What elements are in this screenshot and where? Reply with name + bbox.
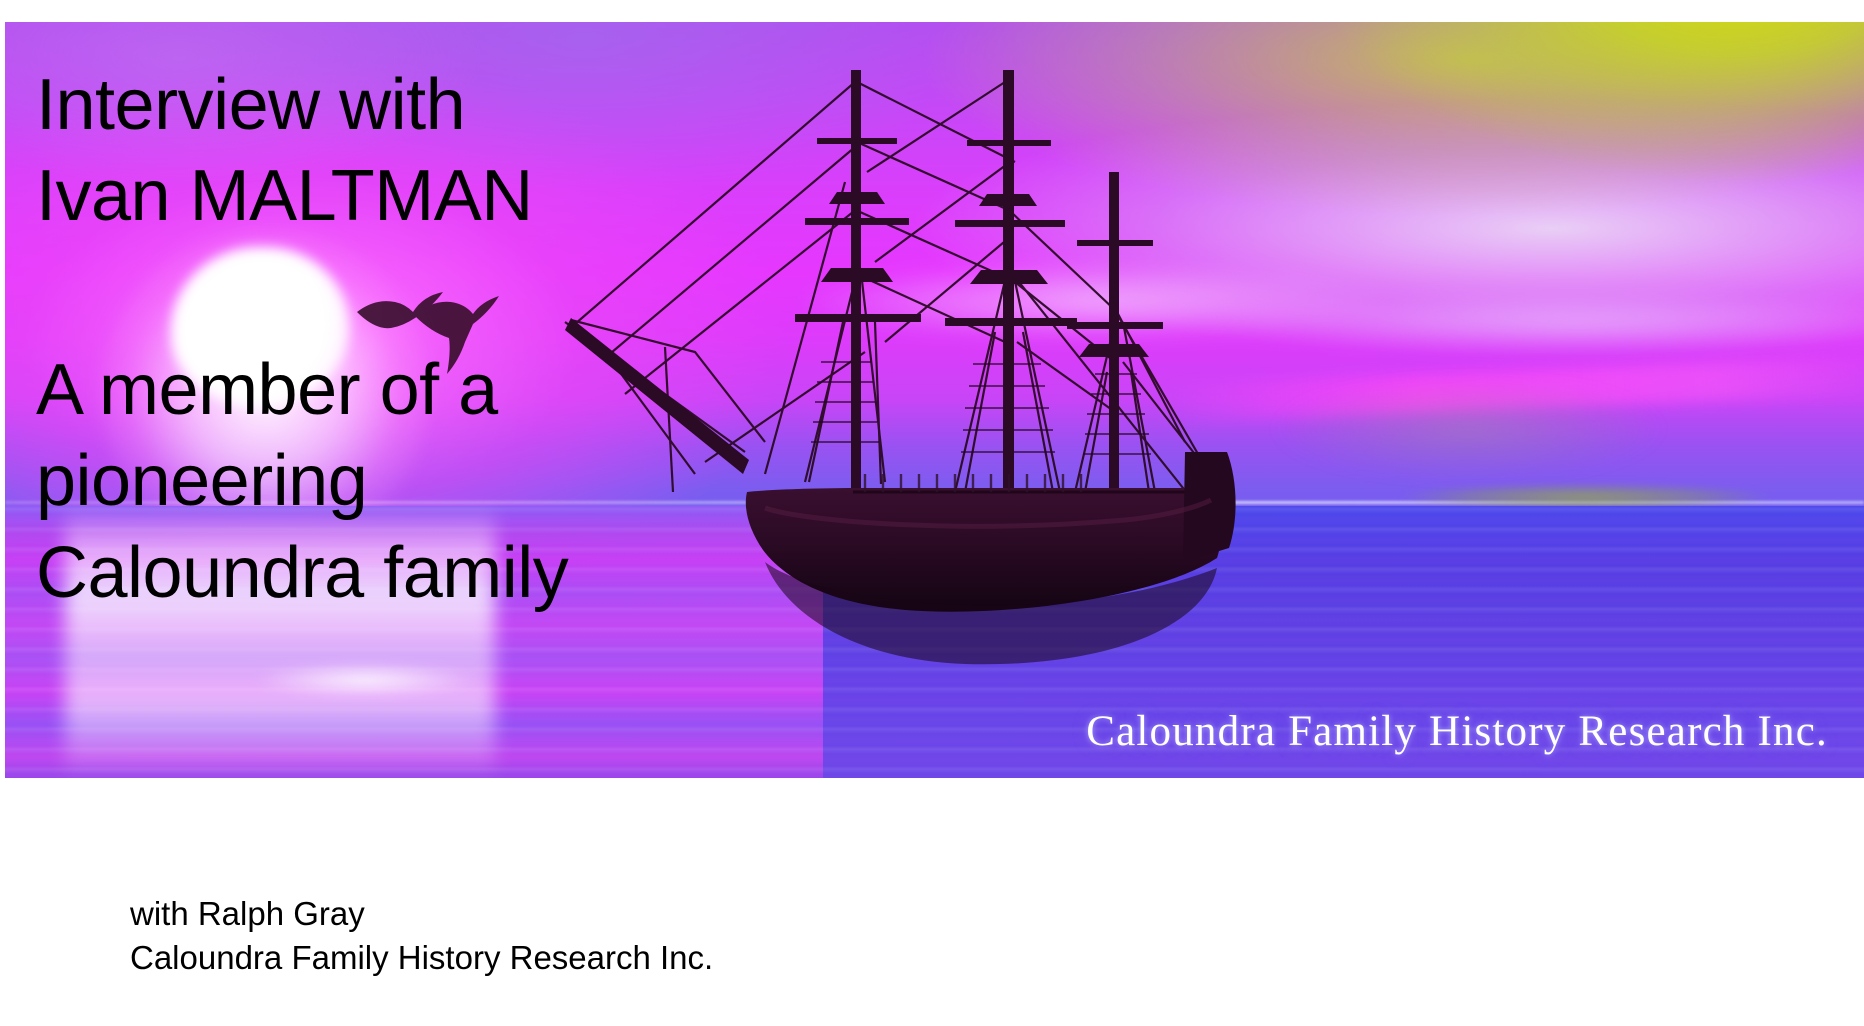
title-banner-image: Interview with Ivan MALTMAN A member of …	[5, 22, 1864, 778]
presenter-credits: with Ralph Gray Caloundra Family History…	[130, 892, 713, 979]
slide-title: Interview with Ivan MALTMAN	[36, 60, 533, 243]
presenter-organisation: Caloundra Family History Research Inc.	[130, 936, 713, 980]
presenter-name: with Ralph Gray	[130, 892, 713, 936]
organisation-watermark: Caloundra Family History Research Inc.	[1086, 707, 1828, 756]
slide-subtitle: A member of a pioneering Caloundra famil…	[36, 345, 568, 619]
sun-reflection-highlight	[235, 612, 495, 748]
